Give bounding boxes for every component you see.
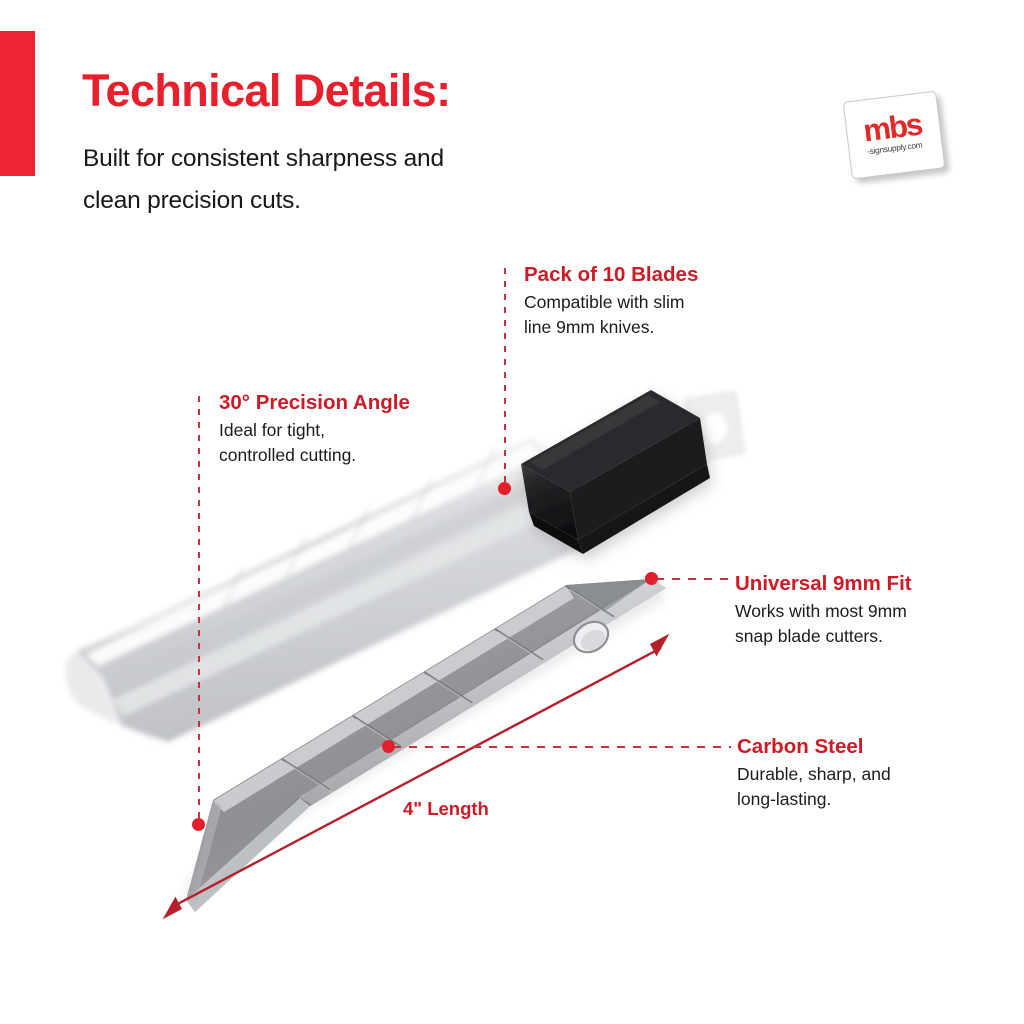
callout-dot-carbon xyxy=(382,740,395,753)
leader-line-angle xyxy=(198,396,200,824)
callout-description-line-1: Ideal for tight, xyxy=(219,418,410,443)
callout-title: 30° Precision Angle xyxy=(219,391,410,415)
callout-description-line-2: snap blade cutters. xyxy=(735,624,912,649)
page-subtitle-line-1: Built for consistent sharpness and xyxy=(83,138,444,180)
length-measurement-label: 4" Length xyxy=(403,798,489,820)
page-subtitle: Built for consistent sharpness and clean… xyxy=(83,138,444,222)
callout-title: Carbon Steel xyxy=(737,735,891,759)
callout-description-line-2: controlled cutting. xyxy=(219,443,410,468)
callout-title: Universal 9mm Fit xyxy=(735,572,912,596)
callout-description: Ideal for tight, controlled cutting. xyxy=(219,418,410,468)
callout-description: Works with most 9mm snap blade cutters. xyxy=(735,599,912,649)
page-title: Technical Details: xyxy=(82,68,451,113)
callout-carbon-steel: Carbon Steel Durable, sharp, and long-la… xyxy=(737,735,891,812)
callout-description-line-1: Durable, sharp, and xyxy=(737,762,891,787)
leader-line-carbon xyxy=(393,746,731,748)
logo-content: mbs -signsupply.com xyxy=(843,91,944,178)
callout-description-line-2: line 9mm knives. xyxy=(524,315,698,340)
callout-description-line-1: Compatible with slim xyxy=(524,290,698,315)
callout-30-precision-angle: 30° Precision Angle Ideal for tight, con… xyxy=(219,391,410,468)
arrowhead-left xyxy=(156,897,182,920)
callout-pack-of-10-blades: Pack of 10 Blades Compatible with slim l… xyxy=(524,263,698,340)
callout-title: Pack of 10 Blades xyxy=(524,263,698,287)
callout-description: Durable, sharp, and long-lasting. xyxy=(737,762,891,812)
header-accent-bar xyxy=(0,31,35,176)
callout-dot-fit xyxy=(645,572,658,585)
callout-universal-9mm-fit: Universal 9mm Fit Works with most 9mm sn… xyxy=(735,572,912,649)
leader-line-fit xyxy=(656,578,728,580)
arrowhead-right xyxy=(650,634,676,657)
infographic-canvas: Technical Details: Built for consistent … xyxy=(0,0,1024,1024)
callout-description-line-1: Works with most 9mm xyxy=(735,599,912,624)
leader-line-pack xyxy=(504,268,506,486)
brand-logo: mbs -signsupply.com xyxy=(841,92,949,184)
logo-letter-s: s xyxy=(904,107,923,144)
black-end-cap-group xyxy=(521,390,710,554)
logo-wordmark: mbs xyxy=(862,112,922,144)
callout-dot-angle xyxy=(192,818,205,831)
length-measure-arrow xyxy=(172,648,661,907)
callout-description: Compatible with slim line 9mm knives. xyxy=(524,290,698,340)
callout-dot-pack xyxy=(498,482,511,495)
callout-description-line-2: long-lasting. xyxy=(737,787,891,812)
blade-hole xyxy=(568,616,613,659)
page-subtitle-line-2: clean precision cuts. xyxy=(83,180,444,222)
